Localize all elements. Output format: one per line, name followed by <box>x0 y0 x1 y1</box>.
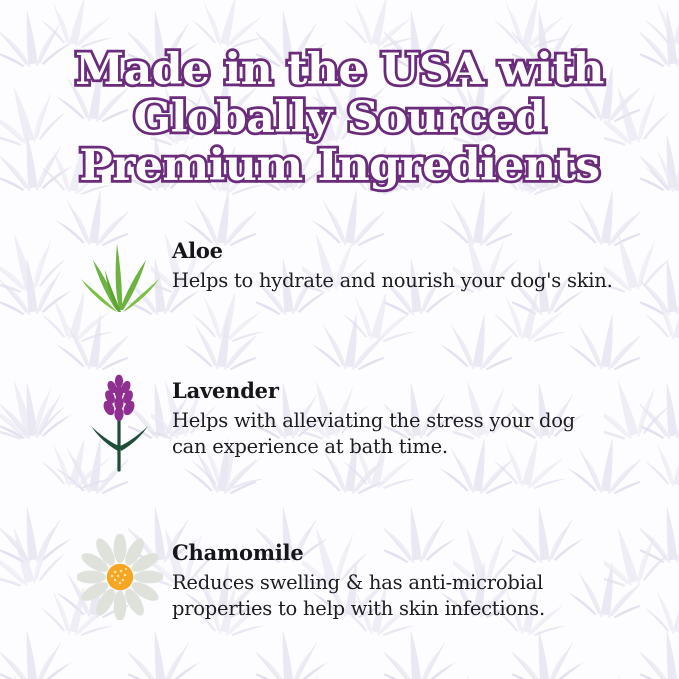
lavender-text-block: Lavender Helps with alleviating the stre… <box>168 372 575 460</box>
ingredient-name-aloe: Aloe <box>172 238 613 263</box>
ingredient-item-lavender: Lavender Helps with alleviating the stre… <box>72 372 632 476</box>
chamomile-daisy-icon <box>72 534 168 630</box>
headline-line-3: Premium Ingredients <box>0 142 679 190</box>
desc-line: can experience at bath time. <box>172 434 575 460</box>
desc-line: Reduces swelling & has anti-microbial <box>172 570 545 596</box>
desc-line: Helps with alleviating the stress your d… <box>172 408 575 434</box>
ingredient-desc-lavender: Helps with alleviating the stress your d… <box>172 408 575 460</box>
ingredient-desc-aloe: Helps to hydrate and nourish your dog's … <box>172 268 613 294</box>
lavender-flower-icon <box>72 372 168 476</box>
infographic-content: Made in the USA with Globally Sourced Pr… <box>0 0 679 679</box>
aloe-text-block: Aloe Helps to hydrate and nourish your d… <box>168 232 613 294</box>
ingredient-name-lavender: Lavender <box>172 378 575 403</box>
headline-line-2: Globally Sourced <box>0 94 679 142</box>
ingredient-desc-chamomile: Reduces swelling & has anti-microbial pr… <box>172 570 545 622</box>
desc-line: properties to help with skin infections. <box>172 596 545 622</box>
chamomile-text-block: Chamomile Reduces swelling & has anti-mi… <box>168 534 545 622</box>
ingredient-item-chamomile: Chamomile Reduces swelling & has anti-mi… <box>72 534 632 630</box>
aloe-plant-icon <box>72 232 168 328</box>
headline-line-1: Made in the USA with <box>0 46 679 94</box>
ingredient-item-aloe: Aloe Helps to hydrate and nourish your d… <box>72 232 632 328</box>
ingredient-name-chamomile: Chamomile <box>172 540 545 565</box>
page-title: Made in the USA with Globally Sourced Pr… <box>0 46 679 190</box>
desc-line: Helps to hydrate and nourish your dog's … <box>172 268 613 294</box>
